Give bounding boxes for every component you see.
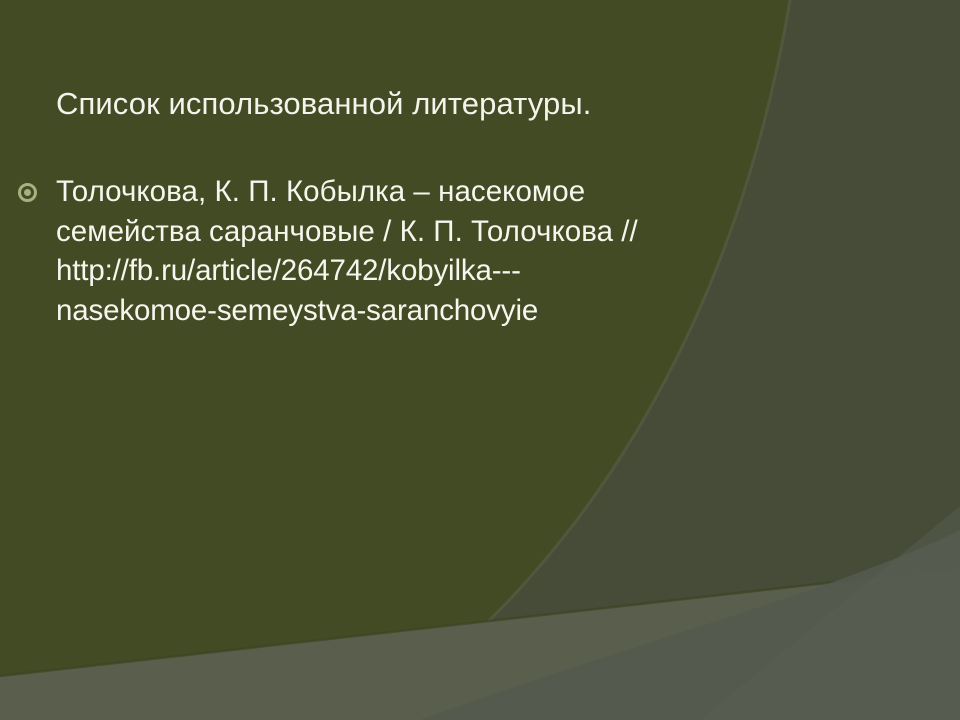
reference-line-1: Толочкова, К. П. Кобылка – насекомое [56,172,898,212]
reference-line-2: семейства саранчовые / К. П. Толочкова /… [56,212,898,252]
slide-content: Список использованной литературы. Толочк… [0,0,960,720]
reference-text: Толочкова, К. П. Кобылка – насекомое сем… [56,172,898,331]
reference-line-3: http://fb.ru/article/264742/kobyilka--- [56,251,898,291]
list-item: Толочкова, К. П. Кобылка – насекомое сем… [18,172,898,331]
reference-list: Толочкова, К. П. Кобылка – насекомое сем… [18,172,898,331]
ring-bullet-icon [18,183,37,202]
page-title: Список использованной литературы. [56,85,896,122]
slide-canvas: Список использованной литературы. Толочк… [0,0,960,720]
reference-line-4: nasekomoe-semeystva-saranchovyie [56,291,898,331]
